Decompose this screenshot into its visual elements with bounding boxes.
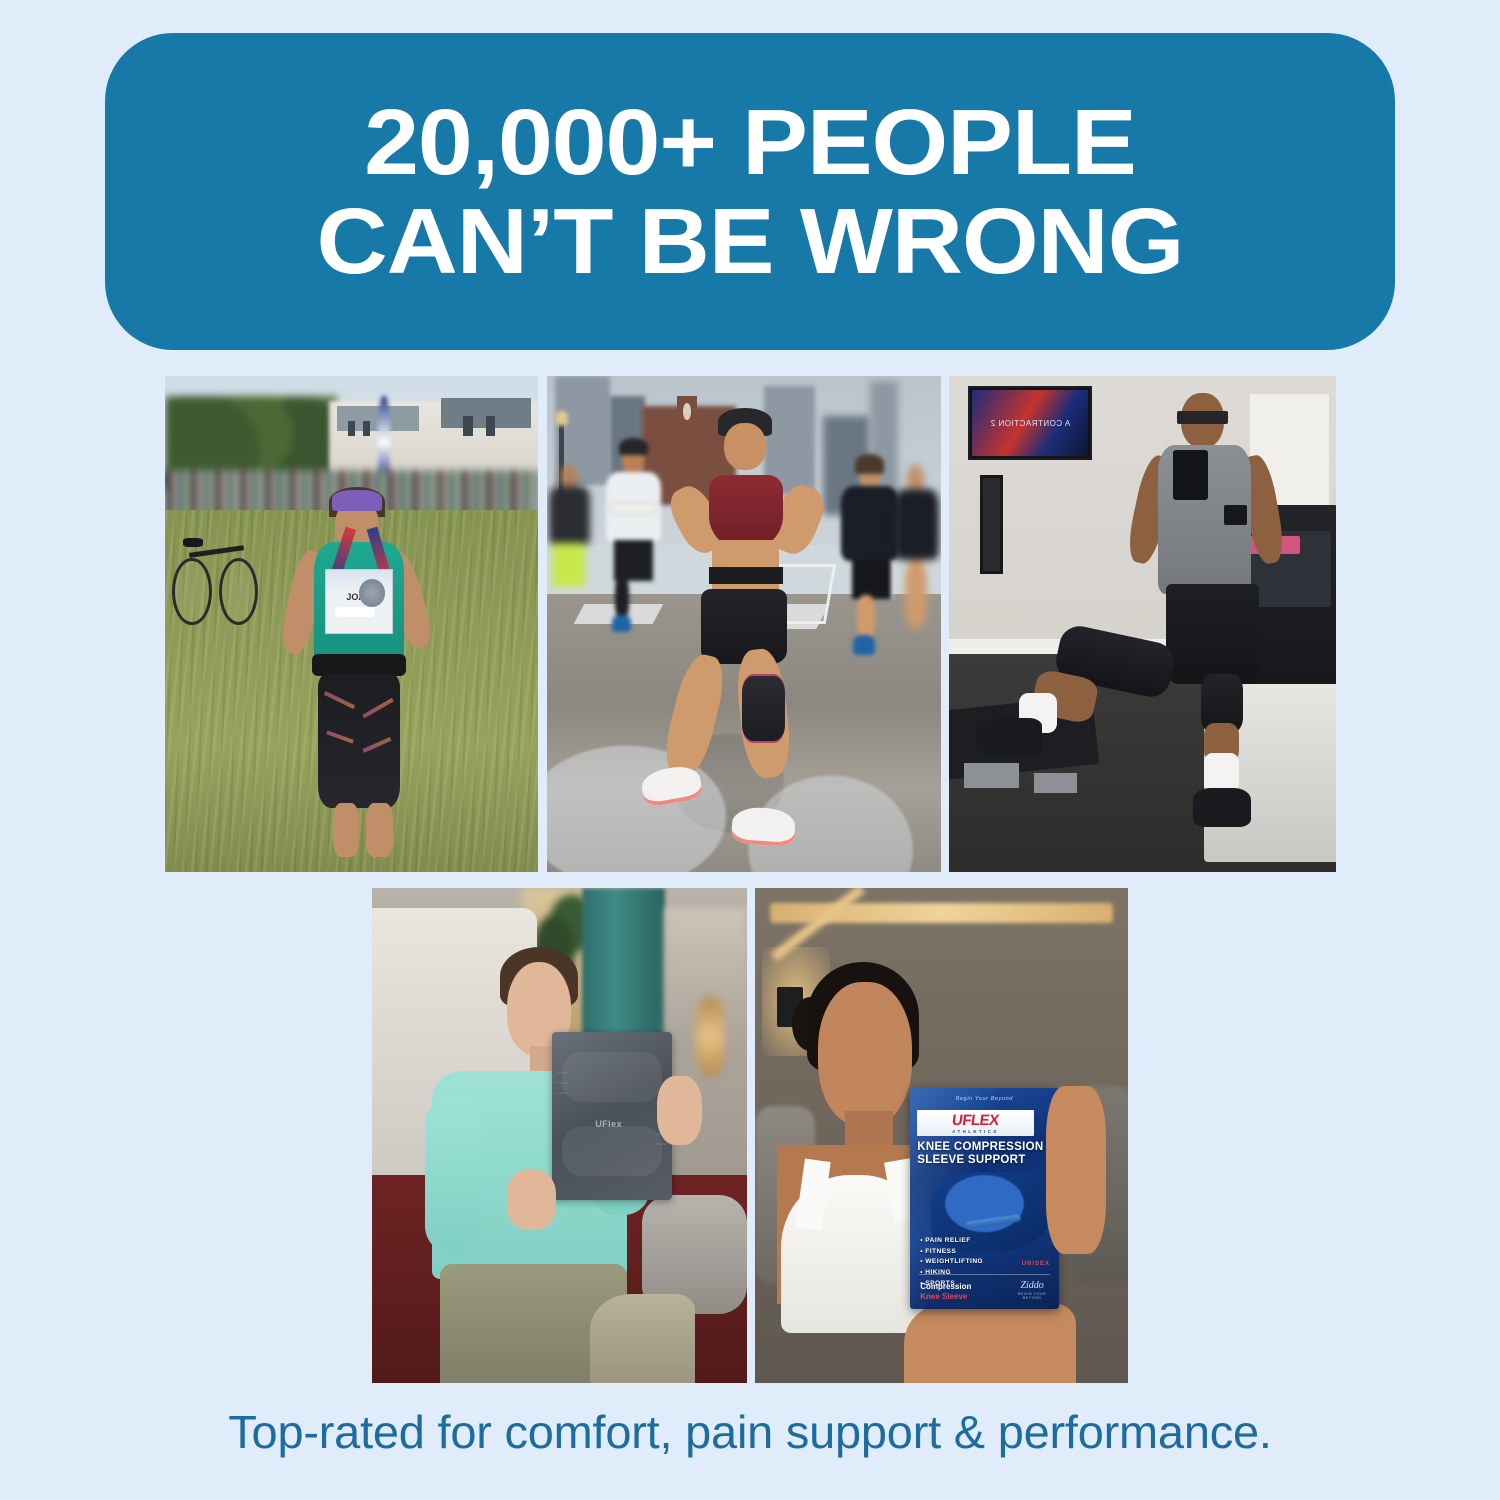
bench-leg (1034, 773, 1077, 793)
tower-clock-face (683, 403, 692, 420)
photo-4-scene: UFlex (372, 888, 747, 1383)
package-title: KNEE COMPRESSION SLEEVE SUPPORT (917, 1141, 1051, 1167)
running-belt (312, 654, 405, 676)
photo-rainy-race (547, 376, 941, 872)
bench-leg (964, 763, 1018, 788)
window (486, 416, 495, 436)
tv-caption-text: A CONTRACTION 2 (974, 419, 1087, 428)
background-runner (602, 445, 665, 633)
runner-shorts (701, 589, 788, 663)
subject-hand-right (657, 1076, 702, 1145)
sleeve-brand-label: UFlex (595, 1119, 622, 1129)
subject-sleeve-left (425, 1096, 481, 1254)
photo-1-scene: JOAN (165, 376, 538, 872)
smartphone (1173, 450, 1208, 500)
event-feather-flag (378, 396, 391, 480)
knee-compression-sleeve (742, 674, 785, 743)
signature-name: Ziddo (1013, 1281, 1052, 1291)
window (363, 421, 370, 436)
package-title-line-1: KNEE COMPRESSION (917, 1141, 1051, 1154)
background-runner (894, 465, 941, 663)
photo-5-scene: Begin Your Beyond UFLEX ATHLETICS KNEE C… (755, 888, 1128, 1383)
athletic-shorts (1166, 584, 1259, 683)
photo-home-gym-selfie: A CONTRACTION 2 (949, 376, 1336, 872)
package-signature-mark: Ziddo BEGIN YOUR BEYOND (1013, 1281, 1052, 1300)
photo-2-scene (547, 376, 941, 872)
subject-knee (590, 1294, 695, 1383)
finisher-medal (359, 579, 385, 606)
race-bib: JOAN (325, 569, 392, 633)
bicycle (172, 525, 262, 634)
package-tagline: Begin Your Beyond (922, 1096, 1047, 1102)
photo-race-finisher: JOAN (165, 376, 538, 872)
benefit-item: • PAIN RELIEF (920, 1236, 1010, 1247)
subject-head (818, 982, 911, 1126)
package-footer-line-1: Compression (920, 1282, 1012, 1292)
package-footer: Compression Knee Sleeve (920, 1282, 1012, 1302)
window (463, 416, 472, 436)
subject-hand-left (507, 1170, 556, 1229)
brand-subline: ATHLETICS (952, 1129, 999, 1134)
runner-sports-bra (709, 475, 784, 549)
headband (332, 490, 382, 511)
photo-3-scene: A CONTRACTION 2 (949, 376, 1336, 872)
subject-hand (1046, 1086, 1106, 1254)
compression-capris (318, 674, 400, 808)
eyeglasses (1177, 411, 1227, 424)
package-title-line-2: SLEEVE SUPPORT (917, 1154, 1051, 1167)
sock-right (1204, 753, 1239, 793)
shoe-left (976, 718, 1042, 758)
knee-sleeve-product: UFlex (552, 1032, 672, 1200)
window (348, 421, 355, 436)
wristwatch (1224, 505, 1247, 525)
race-bib-number-strip (335, 607, 374, 617)
photo-grid: JOAN (0, 0, 1500, 1500)
brand-logo-lockup: UFLEX ATHLETICS (917, 1110, 1033, 1135)
subject-lap (904, 1304, 1076, 1383)
benefit-item: • FITNESS (920, 1247, 1010, 1258)
wall-picture-frame (980, 475, 1003, 574)
signature-subline: BEGIN YOUR BEYOND (1013, 1292, 1052, 1300)
shoe-right (1193, 788, 1251, 828)
package-divider (919, 1274, 1050, 1275)
subject-shin-left (333, 803, 359, 858)
benefit-item: • WEIGHTLIFTING (920, 1257, 1010, 1268)
package-footer-line-2: Knee Sleeve (920, 1292, 1012, 1302)
package-sleeve-band (966, 1214, 1021, 1229)
promo-image-root: 20,000+ PEOPLE CAN’T BE WRONG (0, 0, 1500, 1500)
unisex-badge: UNISEX (1022, 1261, 1050, 1267)
subject-shin-right (366, 803, 392, 858)
lamp-glow (555, 411, 568, 426)
background-runner (547, 465, 594, 634)
photo-sleeve-unboxing: UFlex (372, 888, 747, 1383)
footer-caption: Top-rated for comfort, pain support & pe… (0, 1405, 1500, 1459)
runner-head (724, 423, 765, 470)
photo-package-selfie: Begin Your Beyond UFLEX ATHLETICS KNEE C… (755, 888, 1128, 1383)
brand-wordmark: UFLEX (951, 1113, 1000, 1128)
runner-waist-belt (709, 567, 784, 584)
wall-tv: A CONTRACTION 2 (968, 386, 1092, 460)
product-package: Begin Your Beyond UFLEX ATHLETICS KNEE C… (910, 1088, 1059, 1308)
lamp (695, 997, 725, 1076)
